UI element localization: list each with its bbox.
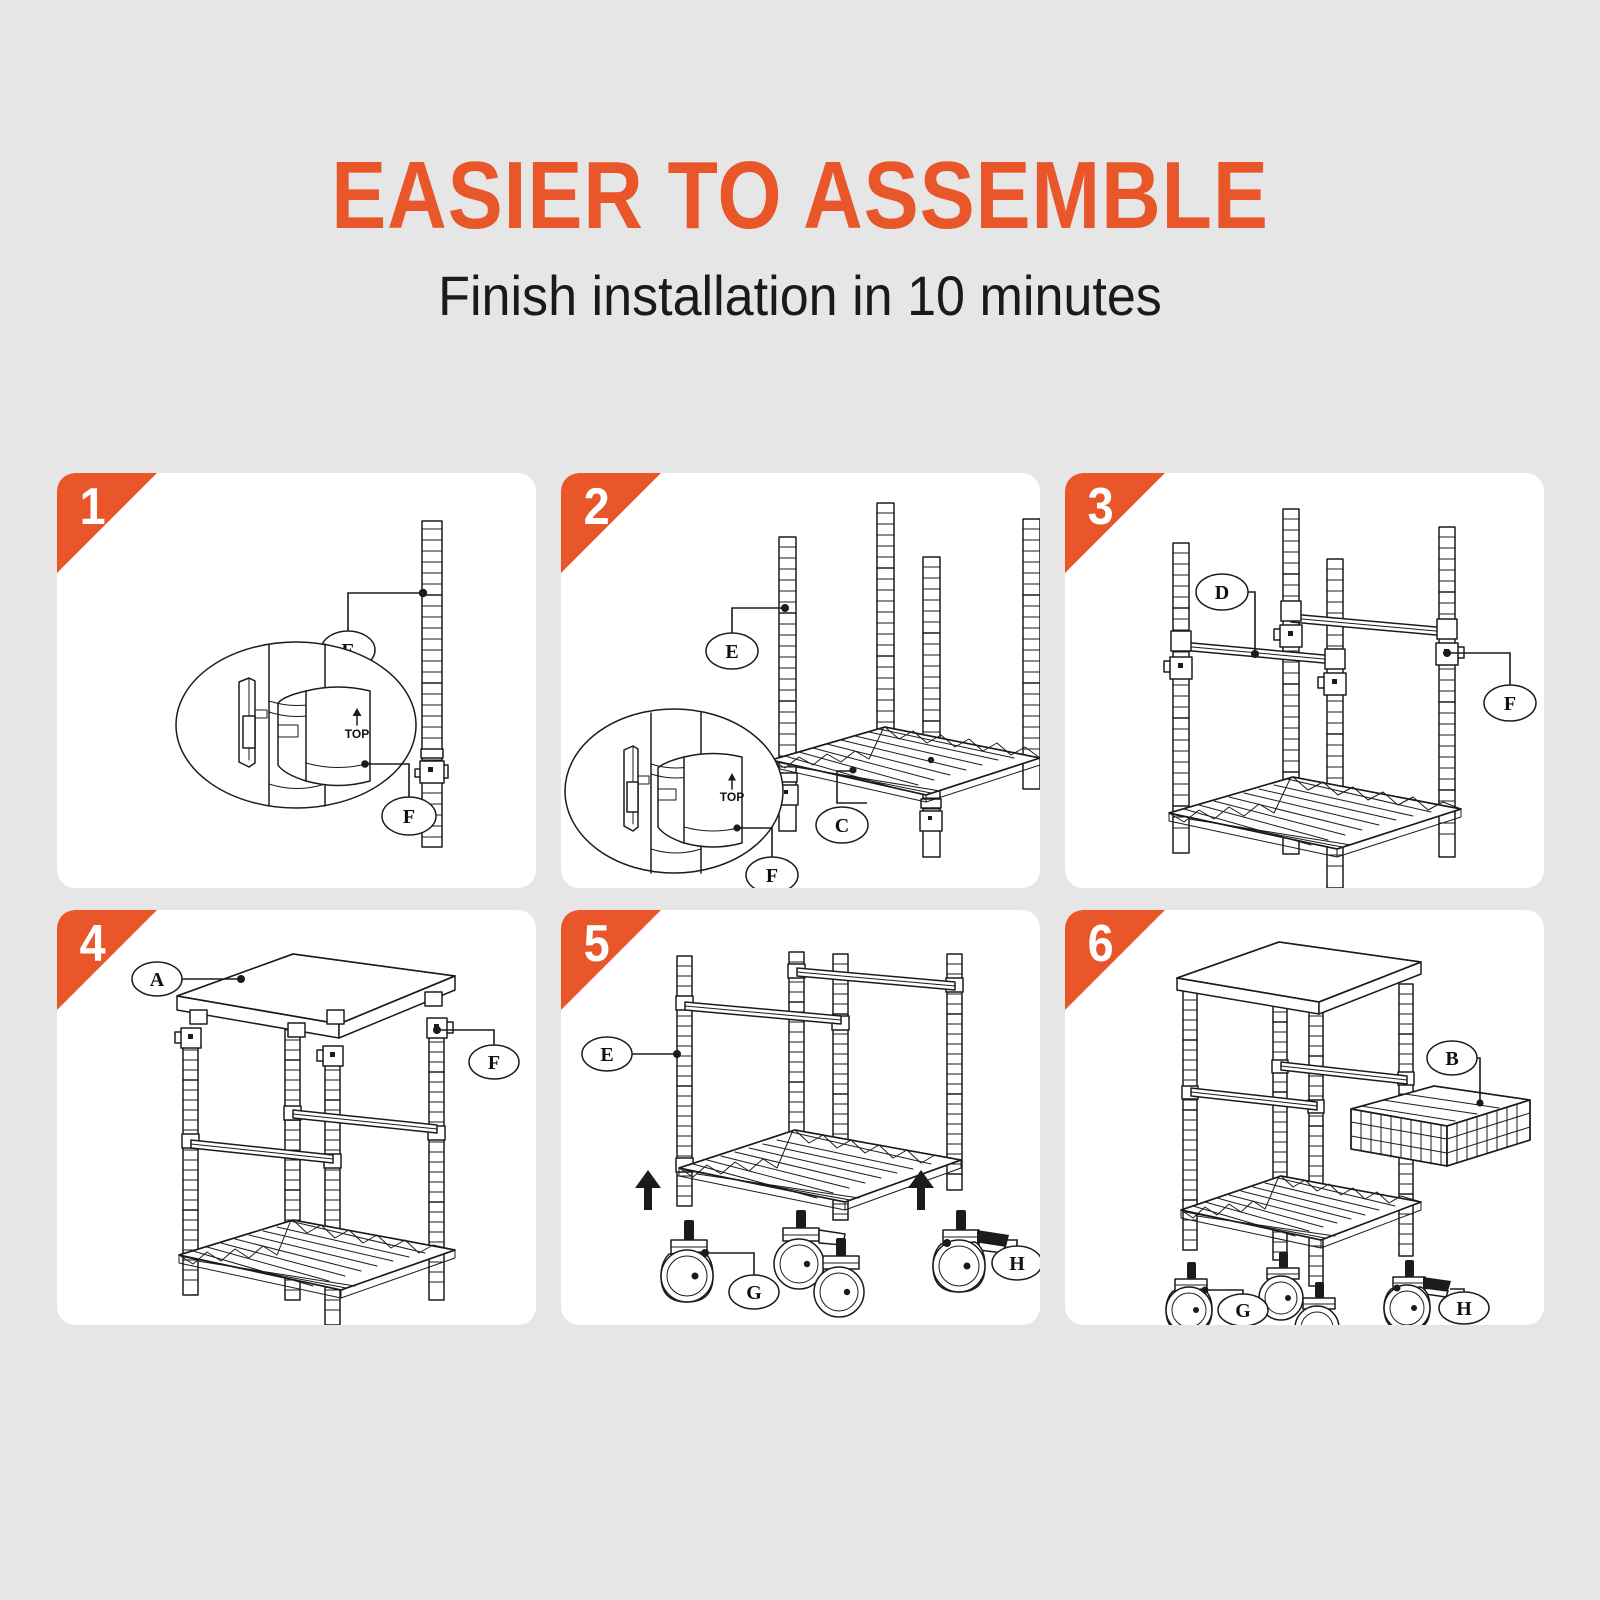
pole-middle (920, 557, 942, 857)
step-1-illustration: E (57, 473, 536, 888)
pole-right (1023, 519, 1040, 789)
clip-front-right (317, 1046, 343, 1066)
svg-text:F: F (1504, 693, 1516, 715)
support-bar-front (191, 1140, 333, 1163)
svg-text:G: G (746, 1282, 762, 1304)
pole-front-left (1173, 543, 1189, 853)
wire-shelf-bottom (1169, 777, 1461, 857)
svg-text:TOP: TOP (345, 727, 369, 741)
svg-text:E: E (725, 641, 738, 663)
detail-magnifier-oval: TOP (176, 642, 416, 808)
step-card-2[interactable]: E C (561, 473, 1040, 888)
step-card-4[interactable]: A F 4 (57, 910, 536, 1325)
support-bar-back (1281, 1062, 1407, 1084)
step-5-illustration: E G H (561, 910, 1040, 1325)
svg-text:E: E (600, 1044, 613, 1066)
callout-e: E (582, 1037, 681, 1071)
svg-text:D: D (1215, 582, 1229, 604)
caster-part-g (1166, 1262, 1212, 1325)
wire-shelf-part-c (771, 727, 1040, 802)
svg-text:F: F (403, 806, 415, 828)
svg-text:F: F (766, 865, 778, 887)
callout-g: G (706, 1253, 779, 1309)
support-bar-back (797, 968, 955, 990)
svg-text:A: A (150, 969, 165, 991)
page-subtitle: Finish installation in 10 minutes (56, 244, 1544, 326)
svg-text:F: F (488, 1052, 500, 1074)
pole-front-right (1308, 1006, 1324, 1286)
wire-basket-part-b (1351, 1086, 1530, 1166)
wire-shelf-bottom (1181, 1176, 1421, 1248)
step-card-3[interactable]: D F 3 (1065, 473, 1544, 888)
clip-front-left (175, 1028, 201, 1048)
header: EASIER TO ASSEMBLE Finish installation i… (0, 0, 1600, 326)
caster-part-g (661, 1220, 713, 1302)
callout-e: E (706, 604, 789, 669)
caster-part-h (933, 1210, 1009, 1292)
svg-text:B: B (1445, 1048, 1458, 1070)
clip-on-pole (415, 749, 448, 783)
svg-text:H: H (1009, 1253, 1025, 1275)
caster-mid-right (814, 1238, 864, 1317)
pole-back-right (877, 503, 894, 765)
top-board (1177, 942, 1421, 1014)
svg-text:TOP: TOP (720, 790, 744, 804)
step-card-5[interactable]: E G H (561, 910, 1040, 1325)
steps-grid: E (57, 473, 1544, 1378)
step-card-6[interactable]: B G H (1065, 910, 1544, 1325)
step-4-illustration: A F (57, 910, 536, 1325)
step-2-illustration: E C (561, 473, 1040, 888)
callout-c: C (816, 771, 868, 843)
step-card-1[interactable]: E (57, 473, 536, 888)
support-bar-back (1291, 614, 1447, 636)
support-bar-front (1191, 1088, 1317, 1110)
support-bar-front (685, 1002, 841, 1024)
detail-magnifier-oval: TOP (565, 709, 783, 873)
support-bar-back (293, 1110, 437, 1133)
assembly-instructions-page: EASIER TO ASSEMBLE Finish installation i… (0, 0, 1600, 1600)
svg-text:G: G (1235, 1300, 1251, 1322)
top-board-part-a (177, 954, 455, 1038)
page-title: EASIER TO ASSEMBLE (112, 0, 1488, 244)
arrow-up-left (635, 1170, 661, 1210)
wire-shelf-bottom (179, 1220, 455, 1298)
svg-text:H: H (1456, 1298, 1472, 1320)
step-3-illustration: D F (1065, 473, 1544, 888)
svg-text:C: C (835, 815, 849, 837)
step-6-illustration: B G H (1065, 910, 1544, 1325)
